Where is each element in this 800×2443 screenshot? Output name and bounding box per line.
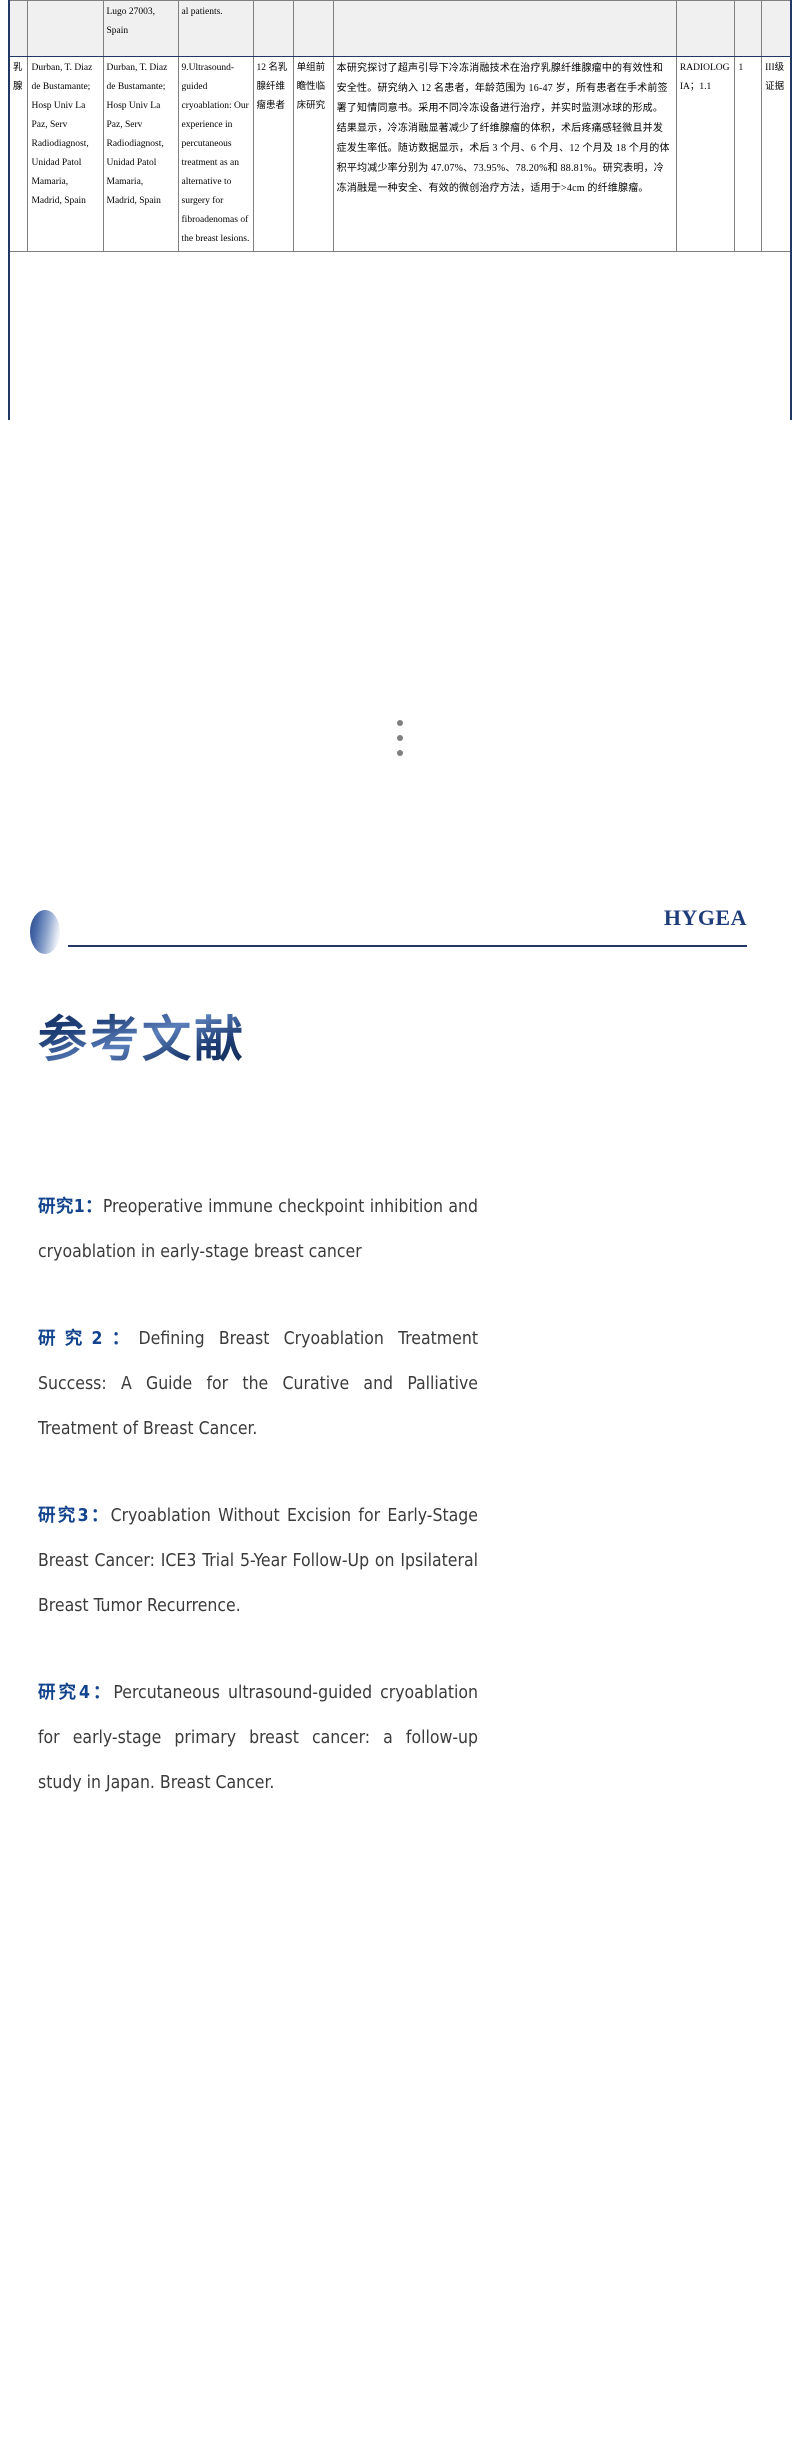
- cell-sample-prev: [253, 1, 293, 57]
- brand-ellipse-icon: [30, 910, 60, 954]
- evidence-table: Lugo 27003, Spain al patients. 乳腺 Durban…: [9, 0, 791, 252]
- table-row: 乳腺 Durban, T. Diaz de Bustamante; Hosp U…: [10, 57, 791, 252]
- cell-affiliation: Durban, T. Diaz de Bustamante; Hosp Univ…: [103, 57, 178, 252]
- brand-header: HYGEA: [0, 900, 800, 960]
- reference-list: 研究1：Preoperative immune checkpoint inhib…: [38, 1185, 478, 1806]
- table-row: Lugo 27003, Spain al patients.: [10, 1, 791, 57]
- page-title: 参考文献: [38, 1000, 246, 1071]
- evidence-table-block: Lugo 27003, Spain al patients. 乳腺 Durban…: [0, 0, 800, 420]
- brand-wordmark: HYGEA: [664, 905, 747, 931]
- ellipsis-dot: [397, 735, 403, 741]
- list-item: 研究3：Cryoablation Without Excision for Ea…: [38, 1494, 478, 1629]
- cell-category-prev: [10, 1, 28, 57]
- cell-journal: RADIOLOGIA；1.1: [676, 57, 735, 252]
- reference-label: 研究2：: [38, 1329, 139, 1349]
- page-break-indicator: [0, 690, 800, 830]
- header-divider: [68, 945, 747, 947]
- cell-affiliation-prev: Lugo 27003, Spain: [103, 1, 178, 57]
- reference-label: 研究4：: [38, 1683, 113, 1703]
- cell-authors: Durban, T. Diaz de Bustamante; Hosp Univ…: [28, 57, 103, 252]
- table-right-border: [790, 0, 792, 420]
- cell-design-prev: [293, 1, 333, 57]
- cell-journal-prev: [676, 1, 735, 57]
- cell-design: 单组前瞻性临床研究: [293, 57, 333, 252]
- cell-evidence-prev: [762, 1, 791, 57]
- cell-title: 9.Ultrasound-guided cryoablation: Our ex…: [178, 57, 253, 252]
- cell-count: 1: [735, 57, 762, 252]
- cell-title-prev: al patients.: [178, 1, 253, 57]
- list-item: 研究1：Preoperative immune checkpoint inhib…: [38, 1185, 478, 1275]
- cell-sample: 12 名乳腺纤维瘤患者: [253, 57, 293, 252]
- cell-authors-prev: [28, 1, 103, 57]
- reference-label: 研究3：: [38, 1506, 111, 1526]
- ellipsis-dot: [397, 750, 403, 756]
- cell-summary-prev: [333, 1, 676, 57]
- reference-text: Preoperative immune checkpoint inhibitio…: [38, 1197, 478, 1262]
- vertical-ellipsis-icon: [397, 720, 403, 756]
- reference-label: 研究1：: [38, 1197, 103, 1217]
- cell-evidence-level: III级证据: [762, 57, 791, 252]
- ellipsis-dot: [397, 720, 403, 726]
- list-item: 研究4：Percutaneous ultrasound-guided cryoa…: [38, 1671, 478, 1806]
- cell-category: 乳腺: [10, 57, 28, 252]
- cell-count-prev: [735, 1, 762, 57]
- list-item: 研究2：Defining Breast Cryoablation Treatme…: [38, 1317, 478, 1452]
- cell-summary: 本研究探讨了超声引导下冷冻消融技术在治疗乳腺纤维腺瘤中的有效性和安全性。研究纳入…: [333, 57, 676, 252]
- table-left-border: [8, 0, 10, 420]
